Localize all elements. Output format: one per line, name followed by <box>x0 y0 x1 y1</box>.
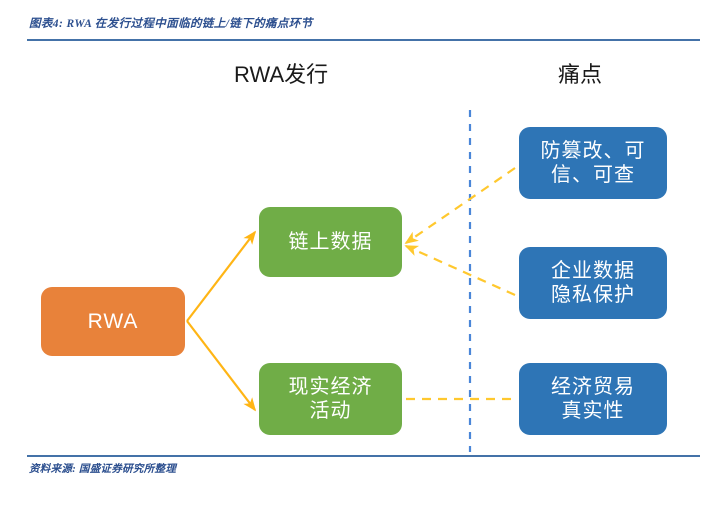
column-heading-painpoints: 痛点 <box>558 57 602 89</box>
node-rwa[interactable]: RWA <box>41 287 185 356</box>
edge-rwa-to-realecon <box>187 321 255 410</box>
node-real-economic-activity[interactable]: 现实经济 活动 <box>259 363 402 435</box>
edge-rwa-to-onchain <box>187 232 255 321</box>
figure-container: 图表4: RWA 在发行过程中面临的链上/链下的痛点环节 RWA发行 痛点 RW… <box>0 0 727 512</box>
source-divider-rule <box>27 455 700 457</box>
title-divider-rule <box>27 39 700 41</box>
edge-onchain-to-pain2 <box>406 246 515 295</box>
source-note: 资料来源: 国盛证券研究所整理 <box>29 461 176 476</box>
edge-onchain-to-pain1 <box>406 168 515 243</box>
node-painpoint-tamper-proof[interactable]: 防篡改、可 信、可查 <box>519 127 667 199</box>
column-heading-issuance: RWA发行 <box>234 57 328 89</box>
node-painpoint-trade-authenticity[interactable]: 经济贸易 真实性 <box>519 363 667 435</box>
node-onchain-data[interactable]: 链上数据 <box>259 207 402 277</box>
node-painpoint-data-privacy[interactable]: 企业数据 隐私保护 <box>519 247 667 319</box>
figure-title: 图表4: RWA 在发行过程中面临的链上/链下的痛点环节 <box>29 15 313 31</box>
